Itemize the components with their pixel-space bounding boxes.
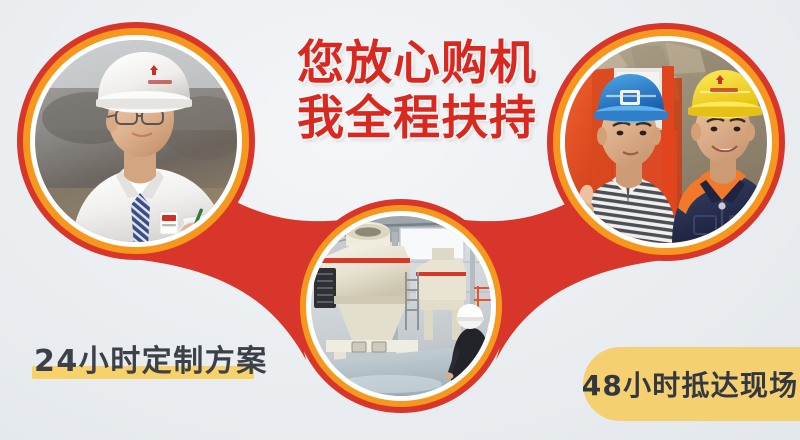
caption-left-text: 24小时定制方案 bbox=[34, 336, 268, 380]
headline-line-1: 您放心购机 bbox=[297, 36, 537, 91]
promo-banner: 您放心购机 我全程扶持 24小时定制方案 48小时抵达现场 bbox=[0, 0, 800, 440]
caption-right-pill: 48小时抵达现场 bbox=[583, 347, 800, 421]
caption-right-text: 48小时抵达现场 bbox=[582, 364, 799, 404]
headline-line-2: 我全程扶持 bbox=[286, 91, 548, 146]
headline: 您放心购机 我全程扶持 bbox=[286, 36, 548, 146]
caption-left: 24小时定制方案 bbox=[34, 336, 268, 380]
circle-left bbox=[17, 22, 255, 260]
circle-right bbox=[547, 23, 785, 261]
